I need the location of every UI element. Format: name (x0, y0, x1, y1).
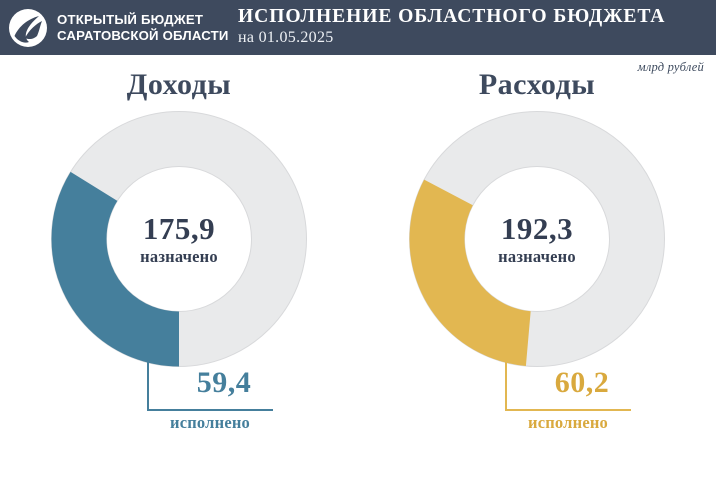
executed-value-expenses: 60,2 (523, 361, 641, 405)
panel-revenues: Доходы 175,9 назначено 59,4 исполнено (0, 64, 358, 484)
logo-line-2: САРАТОВСКОЙ ОБЛАСТИ (57, 28, 229, 44)
logo-block: ОТКРЫТЫЙ БЮДЖЕТ САРАТОВСКОЙ ОБЛАСТИ (0, 8, 232, 48)
logo-line-1: ОТКРЫТЫЙ БЮДЖЕТ (57, 12, 229, 28)
callout-leader-line-vertical-revenues (147, 349, 149, 411)
executed-caption-expenses: исполнено (505, 412, 631, 434)
page-title: ИСПОЛНЕНИЕ ОБЛАСТНОГО БЮДЖЕТА (238, 5, 716, 28)
callout-underline-revenues (147, 409, 273, 411)
logo-wordmark: ОТКРЫТЫЙ БЮДЖЕТ САРАТОВСКОЙ ОБЛАСТИ (57, 12, 229, 44)
panel-title-revenues: Доходы (0, 68, 358, 102)
executed-caption-revenues: исполнено (147, 412, 273, 434)
callout-expenses: 60,2 исполнено (505, 349, 695, 437)
page-header: ОТКРЫТЫЙ БЮДЖЕТ САРАТОВСКОЙ ОБЛАСТИ ИСПО… (0, 0, 716, 55)
donut-chart-revenues: 175,9 назначено (51, 111, 307, 367)
panel-expenses: Расходы 192,3 назначено 60,2 исполнено (358, 64, 716, 484)
executed-value-revenues: 59,4 (165, 361, 283, 405)
page-subtitle-date: на 01.05.2025 (238, 28, 716, 48)
callout-underline-expenses (505, 409, 631, 411)
donut-chart-expenses: 192,3 назначено (409, 111, 665, 367)
open-budget-swoosh-logo-icon (8, 8, 48, 48)
panel-title-expenses: Расходы (358, 68, 716, 102)
callout-revenues: 59,4 исполнено (147, 349, 337, 437)
header-title-block: ИСПОЛНЕНИЕ ОБЛАСТНОГО БЮДЖЕТА на 01.05.2… (232, 5, 716, 50)
callout-leader-line-vertical-expenses (505, 349, 507, 411)
